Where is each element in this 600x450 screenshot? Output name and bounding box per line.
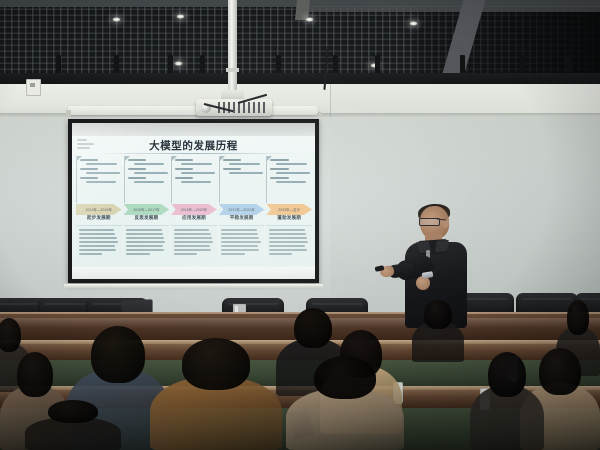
phase-description-line	[79, 241, 118, 243]
phase-description-line	[79, 233, 116, 235]
phase-event-line	[134, 163, 165, 165]
attendee-head	[488, 352, 526, 397]
phase-event-line	[229, 172, 263, 174]
phase-description-line	[79, 249, 117, 251]
phase-name: 反思发展期	[124, 215, 170, 221]
phase-event-line	[128, 177, 146, 179]
attendee-ponytail-front	[286, 356, 404, 450]
phase-description	[219, 225, 265, 266]
phase-description-line	[126, 241, 165, 243]
attendee-head	[567, 300, 590, 335]
downlight-3	[305, 17, 314, 22]
attendee-head	[424, 300, 451, 329]
phase-description-line	[126, 245, 163, 247]
projector-pole-ring	[226, 68, 239, 72]
screen-ledge	[64, 284, 323, 288]
attendee-behind-presenter	[412, 300, 464, 362]
presenter-collar	[418, 239, 449, 255]
phase-event-line	[128, 159, 146, 161]
phase-event-line	[276, 163, 307, 165]
phase-description-line	[126, 249, 164, 251]
phase-events	[124, 156, 170, 203]
downlight-2	[176, 14, 185, 19]
wall-sensor	[26, 79, 41, 96]
phase-event-line	[270, 177, 288, 179]
phase-event-line	[134, 172, 168, 174]
phase-event-line	[175, 168, 193, 170]
phase-event-line	[270, 159, 288, 161]
phase-event-line	[128, 168, 146, 170]
attendee-head	[182, 338, 251, 390]
timeline-columns: 2013年—2015年起步发展期2016年—2017年反思发展期2018年—20…	[76, 156, 312, 266]
phase-description-line	[126, 253, 150, 255]
phase-event-line	[181, 172, 215, 174]
phase-event-line	[86, 163, 117, 165]
phase-arrow: 2013年—2015年	[76, 204, 122, 215]
phase-arrow: 2016年—2017年	[124, 204, 170, 215]
attendee-head	[314, 356, 375, 399]
phase-description-line	[79, 253, 103, 255]
phase-year-range: 2013年—2015年	[86, 207, 112, 212]
phase-event-line	[80, 159, 98, 161]
phase-event-line	[223, 159, 241, 161]
timeline-phase-4: 2021年—2022年平稳发展期	[219, 156, 265, 266]
phase-year-range: 2018年—2020年	[181, 207, 207, 212]
attendee-head	[48, 400, 98, 423]
phase-name: 蓬勃发展期	[266, 215, 312, 221]
attendee-head	[539, 348, 581, 395]
timeline-phase-1: 2013年—2015年起步发展期	[76, 156, 122, 266]
phase-arrow-wrap: 2018年—2020年应用发展期	[171, 203, 217, 222]
phase-description-line	[174, 245, 211, 247]
phase-description-line	[79, 245, 116, 247]
phase-event-line	[276, 181, 306, 183]
projector-drop-pole	[228, 0, 237, 92]
timeline-phase-3: 2018年—2020年应用发展期	[171, 156, 217, 266]
phase-description	[76, 225, 122, 266]
phase-description-line	[174, 241, 213, 243]
timeline-phase-2: 2016年—2017年反思发展期	[124, 156, 170, 266]
phase-arrow-wrap: 2016年—2017年反思发展期	[124, 203, 170, 222]
phase-description-line	[126, 229, 162, 231]
phase-description-line	[221, 245, 258, 247]
slide-title: 大模型的发展历程	[72, 138, 315, 153]
phase-description-line	[174, 229, 210, 231]
phase-event-line	[86, 172, 120, 174]
phase-name: 起步发展期	[76, 215, 122, 221]
phase-arrow-wrap: 2013年—2015年起步发展期	[76, 203, 122, 222]
phase-description-line	[174, 237, 212, 239]
phase-description-line	[269, 253, 293, 255]
attendee-head	[17, 352, 53, 397]
phase-description-line	[174, 233, 211, 235]
ceiling	[0, 0, 600, 78]
attendee-center-brown-coat	[150, 338, 282, 450]
phase-name: 平稳发展期	[219, 215, 265, 221]
attendee-head	[91, 326, 145, 383]
phase-event-line	[270, 168, 288, 170]
phase-description-line	[126, 237, 164, 239]
projector	[196, 99, 272, 116]
phase-events	[76, 156, 122, 203]
phase-description-line	[269, 249, 307, 251]
phase-description	[266, 225, 312, 266]
phase-arrow: 2018年—2020年	[171, 204, 217, 215]
phase-description-line	[174, 249, 212, 251]
phase-description-line	[221, 249, 259, 251]
phase-description	[171, 225, 217, 266]
phase-description-line	[269, 237, 307, 239]
phase-description-line	[221, 229, 257, 231]
phase-arrow-wrap: 2023年—至今蓬勃发展期	[266, 203, 312, 222]
lecture-hall-photo: 大模型的发展历程 2013年—2015年起步发展期2016年—2017年反思发展…	[0, 0, 600, 450]
slide: 大模型的发展历程 2013年—2015年起步发展期2016年—2017年反思发展…	[72, 136, 315, 267]
downlight-1	[112, 17, 121, 22]
attendee-small-foreground	[25, 400, 121, 450]
phase-description-line	[79, 229, 115, 231]
phase-event-line	[223, 168, 241, 170]
phase-event-line	[134, 181, 164, 183]
phase-description-line	[269, 241, 308, 243]
screen-roller-housing	[68, 106, 318, 115]
phase-arrow: 2023年—至今	[266, 204, 312, 215]
downlight-4	[409, 21, 418, 26]
phase-arrow-wrap: 2021年—2022年平稳发展期	[219, 203, 265, 222]
phase-description-line	[221, 241, 260, 243]
phase-event-line	[276, 172, 310, 174]
phase-events	[219, 156, 265, 203]
phase-description-line	[79, 237, 117, 239]
attendee-head	[0, 318, 21, 352]
phase-event-line	[175, 159, 193, 161]
phase-description-line	[221, 237, 259, 239]
attendee-right-glasses	[470, 352, 544, 450]
phase-event-line	[80, 168, 98, 170]
phase-description	[124, 225, 170, 266]
screen-bottom-strip	[72, 267, 315, 279]
phase-description-line	[269, 229, 305, 231]
phase-year-range: 2016年—2017年	[133, 207, 159, 212]
projection-screen: 大模型的发展历程 2013年—2015年起步发展期2016年—2017年反思发展…	[72, 123, 315, 279]
phase-event-line	[86, 181, 116, 183]
phase-description-line	[126, 233, 163, 235]
ceiling-beam-horizontal-2	[302, 6, 600, 12]
phase-arrow: 2021年—2022年	[219, 204, 265, 215]
phase-year-range: 2023年—至今	[278, 207, 300, 212]
phase-event-line	[175, 177, 193, 179]
screen-top-band	[72, 123, 315, 137]
phase-name: 应用发展期	[171, 215, 217, 221]
phase-description-line	[269, 245, 306, 247]
timeline-phase-5: 2023年—至今蓬勃发展期	[266, 156, 312, 266]
phase-description-line	[221, 253, 245, 255]
phase-event-line	[229, 163, 260, 165]
phase-event-line	[181, 163, 212, 165]
phase-event-line	[181, 181, 211, 183]
phase-event-line	[80, 177, 98, 179]
slide-title-rule	[98, 153, 294, 154]
phase-year-range: 2021年—2022年	[228, 207, 254, 212]
phase-description-line	[269, 233, 306, 235]
phase-description-line	[221, 233, 258, 235]
phase-events	[171, 156, 217, 203]
phase-events	[266, 156, 312, 203]
phase-description-line	[174, 253, 198, 255]
